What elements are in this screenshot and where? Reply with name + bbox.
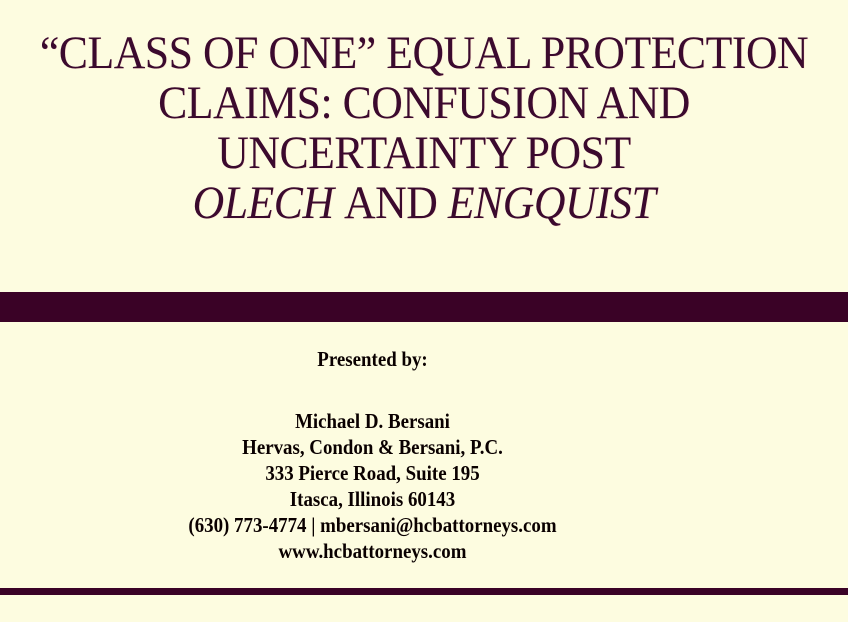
presenter-website: www.hcbattorneys.com xyxy=(37,538,708,564)
title-conjunction xyxy=(334,177,344,229)
title-case-engquist: ENGQUIST xyxy=(448,177,656,229)
title-conjunction-word: AND xyxy=(344,177,437,229)
title-space-2 xyxy=(437,177,447,229)
title-case-olech: OLECH xyxy=(193,177,334,229)
accent-band-primary xyxy=(0,292,848,322)
title-line-4: OLECH AND ENGQUIST xyxy=(30,178,819,228)
presenter-phone-email: (630) 773-4774 | mbersani@hcbattorneys.c… xyxy=(37,512,708,538)
title-line-3: UNCERTAINTY POST xyxy=(30,128,819,178)
title-line-1: “CLASS OF ONE” EQUAL PROTECTION xyxy=(30,28,819,78)
title-slide: “CLASS OF ONE” EQUAL PROTECTION CLAIMS: … xyxy=(0,0,848,622)
presented-by-label: Presented by: xyxy=(37,346,708,372)
presenter-city-state-zip: Itasca, Illinois 60143 xyxy=(37,486,708,512)
title-line-2: CLAIMS: CONFUSION AND xyxy=(30,78,819,128)
presenter-block: Presented by: Michael D. Bersani Hervas,… xyxy=(0,346,745,564)
presenter-firm: Hervas, Condon & Bersani, P.C. xyxy=(37,434,708,460)
slide-title: “CLASS OF ONE” EQUAL PROTECTION CLAIMS: … xyxy=(0,28,848,228)
presenter-street: 333 Pierce Road, Suite 195 xyxy=(37,460,708,486)
accent-band-footer xyxy=(0,588,848,595)
presenter-name: Michael D. Bersani xyxy=(37,408,708,434)
